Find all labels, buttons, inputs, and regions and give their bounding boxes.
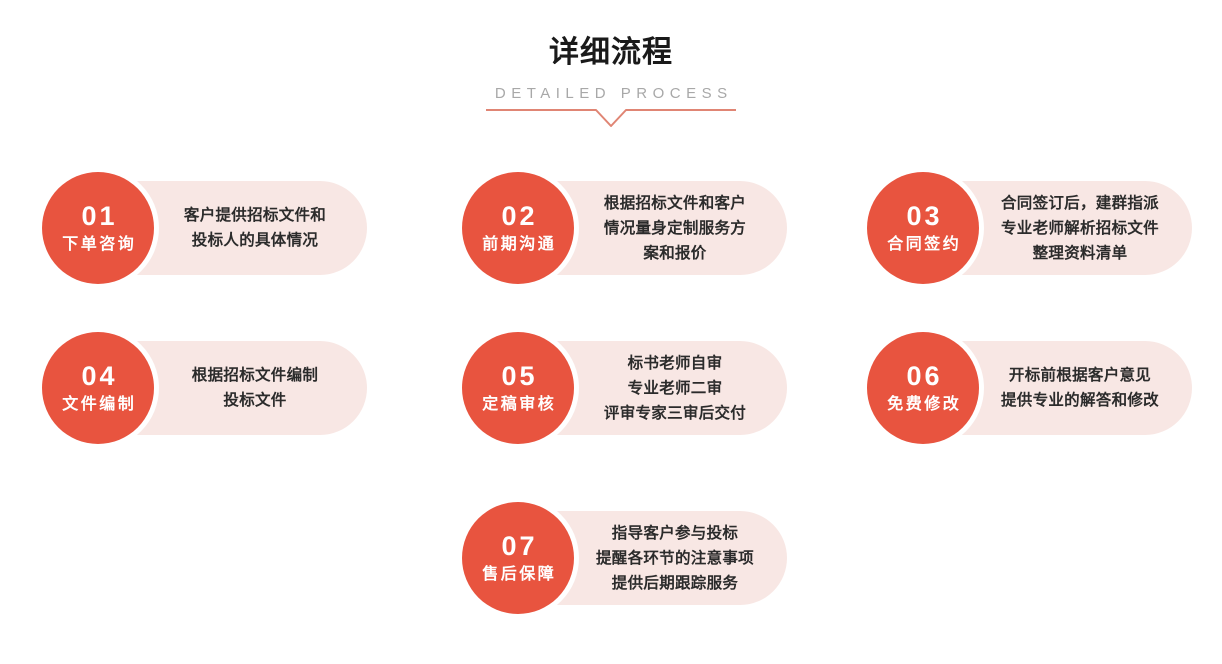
page-title: 详细流程 bbox=[0, 34, 1222, 72]
process-step: 标书老师自审 专业老师二审 评审专家三审后交付05定稿审核 bbox=[457, 327, 787, 449]
divider-with-chevron bbox=[486, 106, 736, 130]
page-subtitle: DETAILED PROCESS bbox=[0, 84, 1222, 104]
step-number: 03 bbox=[903, 201, 942, 231]
process-step: 指导客户参与投标 提醒各环节的注意事项 提供后期跟踪服务07售后保障 bbox=[457, 497, 787, 619]
step-number-badge: 05定稿审核 bbox=[462, 332, 574, 444]
step-number-badge: 04文件编制 bbox=[42, 332, 154, 444]
step-number-badge: 01下单咨询 bbox=[42, 172, 154, 284]
process-step: 客户提供招标文件和 投标人的具体情况01下单咨询 bbox=[37, 167, 367, 289]
step-name: 前期沟通 bbox=[480, 234, 557, 256]
process-step: 开标前根据客户意见 提供专业的解答和修改06免费修改 bbox=[862, 327, 1192, 449]
step-number-badge: 02前期沟通 bbox=[462, 172, 574, 284]
step-number-badge: 07售后保障 bbox=[462, 502, 574, 614]
step-name: 免费修改 bbox=[885, 394, 962, 416]
process-step: 合同签订后，建群指派 专业老师解析招标文件 整理资料清单03合同签约 bbox=[862, 167, 1192, 289]
step-number: 05 bbox=[498, 361, 537, 391]
page-header: 详细流程 DETAILED PROCESS bbox=[0, 0, 1222, 150]
step-name: 售后保障 bbox=[480, 564, 557, 586]
step-name: 下单咨询 bbox=[60, 234, 137, 256]
step-number: 01 bbox=[78, 201, 117, 231]
process-step: 根据招标文件编制 投标文件04文件编制 bbox=[37, 327, 367, 449]
step-number: 07 bbox=[498, 531, 537, 561]
step-number: 06 bbox=[903, 361, 942, 391]
process-step-list: 客户提供招标文件和 投标人的具体情况01下单咨询根据招标文件和客户 情况量身定制… bbox=[0, 150, 1222, 664]
step-name: 合同签约 bbox=[885, 234, 962, 256]
step-name: 定稿审核 bbox=[480, 394, 557, 416]
step-number-badge: 03合同签约 bbox=[867, 172, 979, 284]
divider-chevron-icon bbox=[486, 106, 736, 130]
step-name: 文件编制 bbox=[60, 394, 137, 416]
step-number-badge: 06免费修改 bbox=[867, 332, 979, 444]
process-step: 根据招标文件和客户 情况量身定制服务方 案和报价02前期沟通 bbox=[457, 167, 787, 289]
step-number: 02 bbox=[498, 201, 537, 231]
step-number: 04 bbox=[78, 361, 117, 391]
